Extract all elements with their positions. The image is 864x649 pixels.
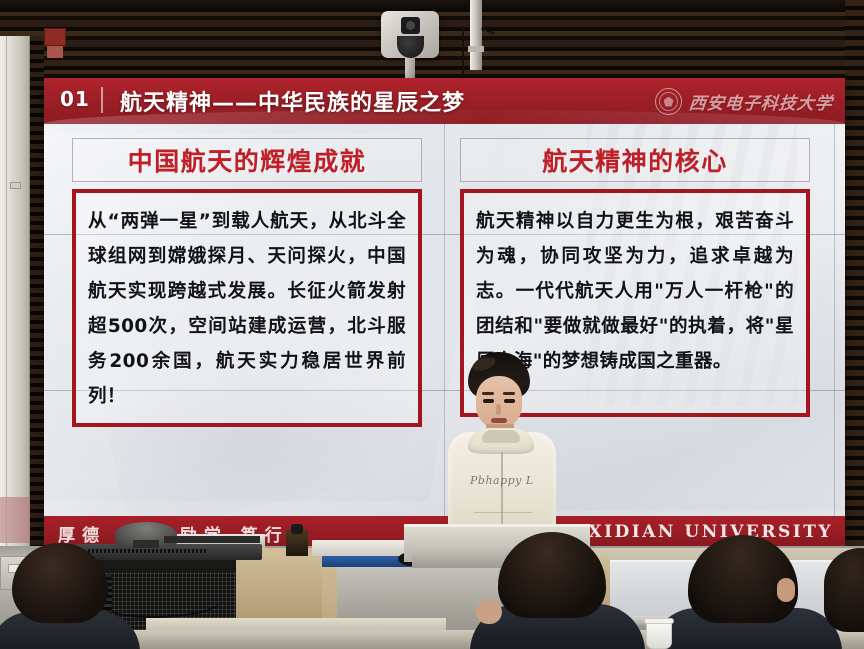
projector-base [133,540,159,548]
paper-cup-rim [644,618,674,624]
amplifier-knob[interactable] [291,524,303,534]
ceiling-red-fixture-lower [47,46,63,58]
hoodie-logo-text: Pbhappy Lnd [470,474,534,490]
camera-lens-icon [401,17,420,34]
header-divider [101,87,103,113]
column-title-right: 航天精神的核心 [542,142,728,178]
slide-title: 航天精神——中华民族的星辰之梦 [120,85,465,117]
slide-column-left: 中国航天的辉煌成就 从“两弹一星”到载人航天，从北斗全球组网到嫦娥探月、天问探火… [72,138,422,427]
university-name-en: XIDIAN UNIVERSITY [588,522,833,542]
column-red-reflection [0,497,30,543]
column-sticker [10,182,21,189]
camera-mount-stem [405,57,415,79]
xidian-seal-icon [655,88,682,115]
hanging-cable [462,26,464,76]
paper-cup [646,620,672,649]
column-title-box-right: 航天精神的核心 [460,138,810,182]
audience-member-hand [476,600,502,624]
slide-header-bar: 01 航天精神——中华民族的星辰之梦 西安电子科技大学 [44,78,845,124]
audience-member-ear [777,578,795,602]
equipment-tray-insert [164,536,260,543]
ceiling-red-fixture [44,28,66,46]
led-panel-seam [834,78,835,548]
presenter-eye-left [483,399,494,403]
column-body-box-left: 从“两弹一星”到载人航天，从北斗全球组网到嫦娥探月、天问探火，中国航天实现跨越式… [72,189,422,427]
lecture-hall-scene: 01 航天精神——中华民族的星辰之梦 西安电子科技大学 中国航天的辉煌成就 从“… [0,0,864,649]
presenter-eyebrow-left [482,392,494,395]
university-logo: 西安电子科技大学 [655,82,833,120]
presenter-hood-inner [482,430,520,443]
presenter-nose [496,404,501,415]
pole-band [468,46,484,52]
presenter-eye-right [504,399,515,403]
support-pole [470,0,482,70]
led-panel-seam [444,78,445,548]
column-title-box-left: 中国航天的辉煌成就 [72,138,422,182]
slide-number: 01 [60,87,90,111]
led-screen[interactable]: 01 航天精神——中华民族的星辰之梦 西安电子科技大学 中国航天的辉煌成就 从“… [44,78,845,548]
university-name-cn: 西安电子科技大学 [688,89,835,114]
column-body-text-right: 航天精神以自力更生为根，艰苦奋斗为魂，协同攻坚为力，追求卓越为志。一代代航天人用… [476,204,794,379]
presenter-mouth [491,418,507,423]
column-body-text-left: 从“两弹一星”到载人航天，从北斗全球组网到嫦娥探月、天问探火，中国航天实现跨越式… [88,204,406,414]
av-rack-vent [88,549,208,553]
presenter-eyebrow-right [503,392,515,395]
column-title-left: 中国航天的辉煌成就 [128,142,367,178]
